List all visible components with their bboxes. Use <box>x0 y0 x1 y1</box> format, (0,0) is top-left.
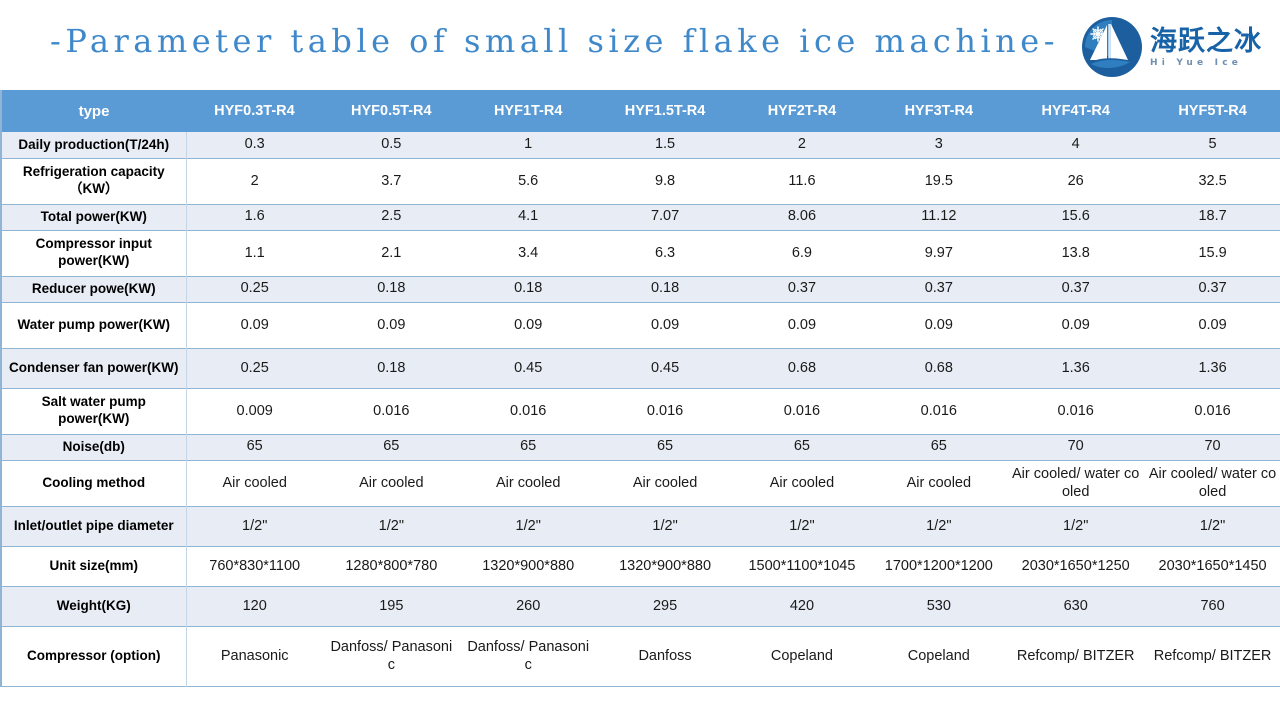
row-label: Water pump power(KW) <box>1 302 186 348</box>
column-header-hyf15t: HYF1.5T-R4 <box>597 90 734 132</box>
table-cell: 0.37 <box>870 276 1007 302</box>
table-cell: Air cooled <box>323 460 460 506</box>
table-cell: 4.1 <box>460 204 597 230</box>
table-cell: 0.18 <box>597 276 734 302</box>
table-row: Refrigeration capacity（KW）23.75.69.811.6… <box>1 158 1280 204</box>
table-cell: Air cooled <box>597 460 734 506</box>
table-row: Cooling methodAir cooledAir cooledAir co… <box>1 460 1280 506</box>
table-cell: Danfoss/ Panasonic <box>323 626 460 686</box>
table-row: Unit size(mm)760*830*11001280*800*780132… <box>1 546 1280 586</box>
table-cell: 260 <box>460 586 597 626</box>
logo-name-cn: 海跃之冰 <box>1150 28 1262 56</box>
table-cell: 760 <box>1144 586 1280 626</box>
table-cell: 0.016 <box>1144 388 1280 434</box>
table-cell: 1/2" <box>1144 506 1280 546</box>
table-cell: 65 <box>186 434 323 460</box>
table-cell: 0.37 <box>1144 276 1280 302</box>
logo-text: 海跃之冰 Hi Yue Ice <box>1150 26 1262 68</box>
table-cell: 0.25 <box>186 276 323 302</box>
table-cell: 6.3 <box>597 230 734 276</box>
table-row: Reducer powe(KW)0.250.180.180.180.370.37… <box>1 276 1280 302</box>
column-header-hyf05t: HYF0.5T-R4 <box>323 90 460 132</box>
table-cell: 65 <box>597 434 734 460</box>
table-cell: 13.8 <box>1007 230 1144 276</box>
sail-snowflake-logo-icon <box>1081 16 1143 78</box>
table-cell: 0.3 <box>186 132 323 158</box>
table-cell: 1700*1200*1200 <box>870 546 1007 586</box>
column-header-hyf5t: HYF5T-R4 <box>1144 90 1280 132</box>
table-row: Weight(KG)120195260295420530630760 <box>1 586 1280 626</box>
table-cell: 19.5 <box>870 158 1007 204</box>
table-cell: 0.45 <box>460 348 597 388</box>
row-label: Weight(KG) <box>1 586 186 626</box>
table-cell: 0.25 <box>186 348 323 388</box>
column-header-hyf1t: HYF1T-R4 <box>460 90 597 132</box>
table-cell: 0.016 <box>1007 388 1144 434</box>
table-cell: 1/2" <box>1007 506 1144 546</box>
table-cell: 1/2" <box>734 506 871 546</box>
table-cell: 0.5 <box>323 132 460 158</box>
table-cell: 0.68 <box>734 348 871 388</box>
table-row: Total power(KW)1.62.54.17.078.0611.1215.… <box>1 204 1280 230</box>
table-cell: 1/2" <box>460 506 597 546</box>
table-cell: 1.6 <box>186 204 323 230</box>
table-cell: 1.36 <box>1007 348 1144 388</box>
table-cell: 65 <box>870 434 1007 460</box>
table-cell: 1280*800*780 <box>323 546 460 586</box>
row-label: Daily production(T/24h) <box>1 132 186 158</box>
table-cell: 70 <box>1007 434 1144 460</box>
table-cell: 70 <box>1144 434 1280 460</box>
table-row: Compressor (option)PanasonicDanfoss/ Pan… <box>1 626 1280 686</box>
logo-name-en: Hi Yue Ice <box>1150 58 1262 68</box>
table-cell: 295 <box>597 586 734 626</box>
row-label: Total power(KW) <box>1 204 186 230</box>
table-row: Condenser fan power(KW)0.250.180.450.450… <box>1 348 1280 388</box>
table-row: Water pump power(KW)0.090.090.090.090.09… <box>1 302 1280 348</box>
table-cell: Air cooled/ water cooled <box>1007 460 1144 506</box>
table-cell: Refcomp/ BITZER <box>1144 626 1280 686</box>
table-row: Daily production(T/24h)0.30.511.52345 <box>1 132 1280 158</box>
table-row: Noise(db)6565656565657070 <box>1 434 1280 460</box>
table-cell: 11.6 <box>734 158 871 204</box>
table-cell: Air cooled <box>734 460 871 506</box>
table-cell: 32.5 <box>1144 158 1280 204</box>
table-cell: 11.12 <box>870 204 1007 230</box>
row-label: Condenser fan power(KW) <box>1 348 186 388</box>
table-cell: 2.1 <box>323 230 460 276</box>
table-cell: 0.09 <box>734 302 871 348</box>
table-cell: Air cooled <box>186 460 323 506</box>
table-cell: 0.45 <box>597 348 734 388</box>
table-cell: 65 <box>734 434 871 460</box>
table-cell: Copeland <box>870 626 1007 686</box>
table-body: Daily production(T/24h)0.30.511.52345Ref… <box>1 132 1280 686</box>
table-cell: 8.06 <box>734 204 871 230</box>
table-cell: 7.07 <box>597 204 734 230</box>
table-row: Compressor input power(KW)1.12.13.46.36.… <box>1 230 1280 276</box>
table-cell: 65 <box>323 434 460 460</box>
table-cell: Copeland <box>734 626 871 686</box>
table-cell: 0.09 <box>1007 302 1144 348</box>
table-cell: 5 <box>1144 132 1280 158</box>
table-cell: 18.7 <box>1144 204 1280 230</box>
table-header-row: type HYF0.3T-R4 HYF0.5T-R4 HYF1T-R4 HYF1… <box>1 90 1280 132</box>
table-cell: 15.9 <box>1144 230 1280 276</box>
table-cell: 1.1 <box>186 230 323 276</box>
table-cell: Air cooled <box>460 460 597 506</box>
table-row: Inlet/outlet pipe diameter1/2"1/2"1/2"1/… <box>1 506 1280 546</box>
table-cell: 15.6 <box>1007 204 1144 230</box>
row-label: Compressor (option) <box>1 626 186 686</box>
table-cell: 0.09 <box>597 302 734 348</box>
row-label: Noise(db) <box>1 434 186 460</box>
column-header-type: type <box>1 90 186 132</box>
table-cell: 0.18 <box>323 348 460 388</box>
table-cell: 0.37 <box>1007 276 1144 302</box>
table-cell: 3.7 <box>323 158 460 204</box>
table-cell: 1.5 <box>597 132 734 158</box>
table-cell: 2030*1650*1450 <box>1144 546 1280 586</box>
row-label: Reducer powe(KW) <box>1 276 186 302</box>
table-cell: 0.009 <box>186 388 323 434</box>
page-header: -Parameter table of small size flake ice… <box>0 0 1280 90</box>
table-cell: 0.09 <box>870 302 1007 348</box>
brand-logo: 海跃之冰 Hi Yue Ice <box>1081 14 1262 80</box>
table-cell: 2030*1650*1250 <box>1007 546 1144 586</box>
table-cell: 0.09 <box>1144 302 1280 348</box>
table-cell: 0.016 <box>870 388 1007 434</box>
table-cell: Danfoss <box>597 626 734 686</box>
table-cell: 0.09 <box>186 302 323 348</box>
table-cell: 5.6 <box>460 158 597 204</box>
table-cell: 4 <box>1007 132 1144 158</box>
table-cell: 0.37 <box>734 276 871 302</box>
table-cell: 1/2" <box>323 506 460 546</box>
table-cell: Air cooled/ water cooled <box>1144 460 1280 506</box>
table-cell: 530 <box>870 586 1007 626</box>
table-cell: 1 <box>460 132 597 158</box>
table-cell: 9.97 <box>870 230 1007 276</box>
column-header-hyf3t: HYF3T-R4 <box>870 90 1007 132</box>
table-cell: Danfoss/ Panasonic <box>460 626 597 686</box>
table-cell: 630 <box>1007 586 1144 626</box>
table-cell: 0.09 <box>460 302 597 348</box>
page-title: -Parameter table of small size flake ice… <box>50 22 1059 60</box>
row-label: Inlet/outlet pipe diameter <box>1 506 186 546</box>
row-label: Compressor input power(KW) <box>1 230 186 276</box>
row-label: Refrigeration capacity（KW） <box>1 158 186 204</box>
table-cell: Air cooled <box>870 460 1007 506</box>
column-header-hyf2t: HYF2T-R4 <box>734 90 871 132</box>
table-row: Salt water pump power(KW)0.0090.0160.016… <box>1 388 1280 434</box>
row-label: Cooling method <box>1 460 186 506</box>
table-header: type HYF0.3T-R4 HYF0.5T-R4 HYF1T-R4 HYF1… <box>1 90 1280 132</box>
table-cell: 1/2" <box>186 506 323 546</box>
table-cell: 0.016 <box>734 388 871 434</box>
table-cell: 1.36 <box>1144 348 1280 388</box>
table-cell: 3.4 <box>460 230 597 276</box>
table-cell: 0.68 <box>870 348 1007 388</box>
table-cell: 1500*1100*1045 <box>734 546 871 586</box>
table-cell: 0.09 <box>323 302 460 348</box>
column-header-hyf03t: HYF0.3T-R4 <box>186 90 323 132</box>
row-label: Salt water pump power(KW) <box>1 388 186 434</box>
table-cell: 26 <box>1007 158 1144 204</box>
table-cell: 0.016 <box>460 388 597 434</box>
table-cell: 0.18 <box>460 276 597 302</box>
column-header-hyf4t: HYF4T-R4 <box>1007 90 1144 132</box>
table-cell: 760*830*1100 <box>186 546 323 586</box>
table-cell: 1320*900*880 <box>460 546 597 586</box>
table-cell: 0.18 <box>323 276 460 302</box>
table-cell: 1320*900*880 <box>597 546 734 586</box>
specification-table: type HYF0.3T-R4 HYF0.5T-R4 HYF1T-R4 HYF1… <box>0 90 1280 687</box>
table-cell: 6.9 <box>734 230 871 276</box>
row-label: Unit size(mm) <box>1 546 186 586</box>
table-cell: 0.016 <box>597 388 734 434</box>
table-cell: 2 <box>186 158 323 204</box>
table-cell: 2 <box>734 132 871 158</box>
table-cell: 3 <box>870 132 1007 158</box>
table-cell: 9.8 <box>597 158 734 204</box>
table-cell: 420 <box>734 586 871 626</box>
table-cell: 2.5 <box>323 204 460 230</box>
table-cell: 0.016 <box>323 388 460 434</box>
table-cell: 120 <box>186 586 323 626</box>
table-cell: Refcomp/ BITZER <box>1007 626 1144 686</box>
table-cell: 1/2" <box>597 506 734 546</box>
table-cell: 1/2" <box>870 506 1007 546</box>
table-cell: 65 <box>460 434 597 460</box>
table-cell: 195 <box>323 586 460 626</box>
table-cell: Panasonic <box>186 626 323 686</box>
